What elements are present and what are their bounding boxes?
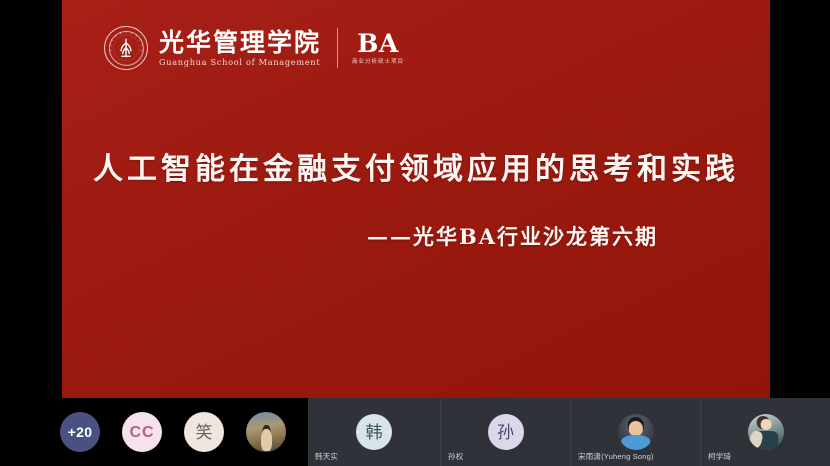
avatar-cc[interactable]: CC xyxy=(122,412,162,452)
avatar-ke-head xyxy=(761,419,772,430)
participant-name-song: 宋雨潇(Yuheng Song) xyxy=(578,452,654,462)
participant-name-han: 韩天实 xyxy=(315,452,338,462)
brand-ba-program: 商业分析硕士项目 xyxy=(352,58,404,66)
presentation-slide[interactable]: 光华管理学院 Guanghua School of Management BA … xyxy=(62,0,770,398)
avatar-han-initial: 韩 xyxy=(366,424,383,441)
brand-chinese-name: 光华管理学院 Guanghua School of Management xyxy=(159,29,321,68)
avatar-sun: 孙 xyxy=(488,414,524,450)
brand-divider xyxy=(337,28,338,68)
overflow-count-label: +20 xyxy=(68,424,93,441)
shared-screen-stage[interactable]: 光华管理学院 Guanghua School of Management BA … xyxy=(0,0,830,398)
slide-title: 人工智能在金融支付领域应用的思考和实践 xyxy=(62,150,770,190)
university-seal-icon xyxy=(104,26,148,70)
avatar-song-head xyxy=(628,421,642,435)
participant-filmstrip[interactable]: +20 CC 笑 韩 韩天实 孙 孙权 xyxy=(0,398,830,466)
participant-tiles[interactable]: 韩 韩天实 孙 孙权 宋雨潇(Yuheng Song) xyxy=(308,398,830,466)
overflow-count-badge[interactable]: +20 xyxy=(60,412,100,452)
brand-ba-block: BA 商业分析硕士项目 xyxy=(352,30,404,66)
brand-en-name: Guanghua School of Management xyxy=(159,57,321,68)
avatar-ke xyxy=(748,414,784,450)
participant-name-ke: 柯学琦 xyxy=(708,452,731,462)
avatar-sun-initial: 孙 xyxy=(497,424,514,441)
brand-lockup: 光华管理学院 Guanghua School of Management BA … xyxy=(104,22,404,74)
participant-tile-han[interactable]: 韩 韩天实 xyxy=(308,398,441,466)
avatar-song-body xyxy=(621,435,651,450)
avatar-xiao-initial: 笑 xyxy=(196,424,213,441)
participant-tile-ke[interactable]: 柯学琦 xyxy=(701,398,830,466)
participant-name-sun: 孙权 xyxy=(448,452,463,462)
avatar-song xyxy=(618,414,654,450)
overflow-participants-group[interactable]: +20 CC 笑 xyxy=(0,398,308,466)
meeting-screen-share-view: 光华管理学院 Guanghua School of Management BA … xyxy=(0,0,830,466)
brand-cn-main: 光华管理学院 xyxy=(159,29,321,56)
avatar-photo-scenery[interactable] xyxy=(246,412,286,452)
brand-ba-abbr: BA xyxy=(357,30,399,57)
participant-tile-sun[interactable]: 孙 孙权 xyxy=(441,398,571,466)
participant-tile-song[interactable]: 宋雨潇(Yuheng Song) xyxy=(571,398,701,466)
avatar-xiao[interactable]: 笑 xyxy=(184,412,224,452)
slide-subtitle: ——光华BA行业沙龙第六期 xyxy=(367,222,658,252)
avatar-cc-initial: CC xyxy=(129,424,154,441)
avatar-han: 韩 xyxy=(356,414,392,450)
